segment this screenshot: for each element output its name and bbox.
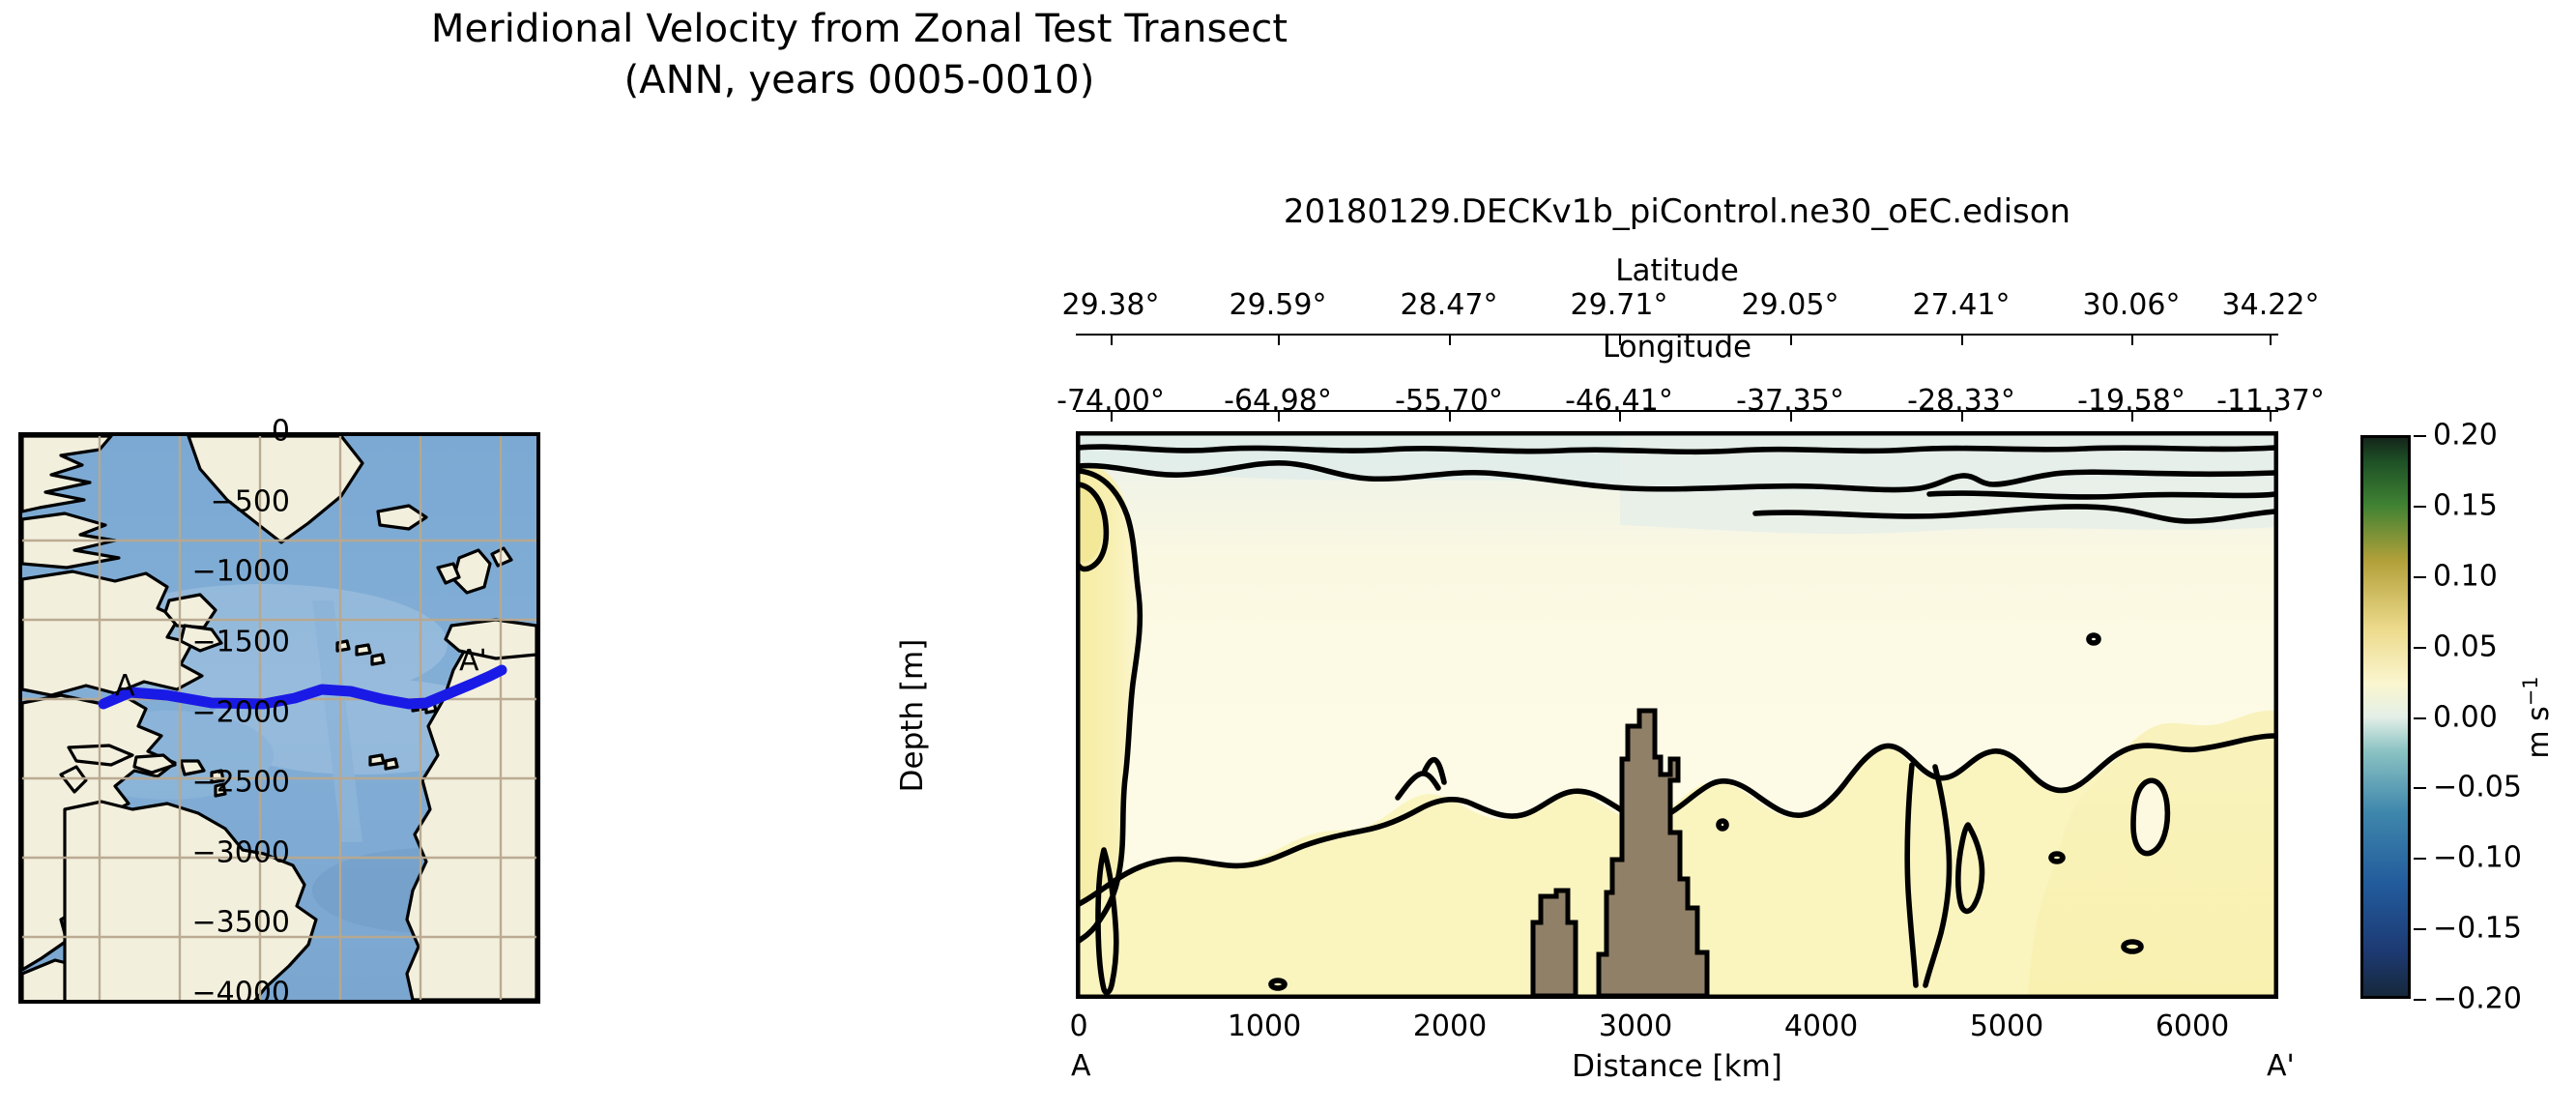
x-tick [1450,996,1452,999]
colorbar[interactable] [2360,435,2411,999]
panel-title: 20180129.DECKv1b_piControl.ne30_oEC.edis… [1076,192,2278,231]
longitude-ticklabel: -37.35° [1736,384,1844,418]
map-label-A-prime: A' [459,644,487,678]
colorbar-tick [2414,787,2426,789]
latitude-ticklabel: 29.59° [1230,288,1327,322]
y-tick [1076,996,1079,998]
y-tick [1076,856,1079,858]
longitude-ticklabel: -64.98° [1224,384,1332,418]
x-ticklabel: 1000 [1228,1009,1301,1043]
x-tick [1635,996,1637,999]
y-tick [1076,716,1079,717]
longitude-ticklabel: -19.58° [2077,384,2185,418]
x-tick [1264,996,1266,999]
colorbar-tick [2414,858,2426,860]
latitude-ticklabel: 34.22° [2222,288,2320,322]
y-ticklabel: −3000 [58,835,290,869]
velocity-field-svg [1079,434,2275,996]
colorbar-tick [2414,928,2426,930]
longitude-ticklabel: -55.70° [1395,384,1503,418]
colorbar-ticklabel: −0.20 [2433,982,2522,1016]
x-ticklabel: 6000 [2156,1009,2229,1043]
y-ticklabel: −4000 [58,977,290,1010]
figure-canvas: Meridional Velocity from Zonal Test Tran… [0,0,2576,1111]
x-ticklabel: 5000 [1970,1009,2043,1043]
colorbar-ticklabel: 0.15 [2433,488,2498,522]
x-ticklabel: 3000 [1599,1009,1672,1043]
suptitle-line-2: (ANN, years 0005-0010) [0,55,1719,106]
x-ticklabel: 4000 [1784,1009,1858,1043]
longitude-ticklabel: -46.41° [1565,384,1673,418]
x-tick [2191,996,2193,999]
latitude-axis-title: Latitude [1076,253,2278,288]
latitude-ticklabel: 29.71° [1571,288,1668,322]
y-tick [1076,645,1079,647]
colorbar-tick [2414,717,2426,719]
x-axis-title: Distance [km] [1572,1049,1782,1084]
y-ticklabel: −1500 [58,625,290,658]
y-tick [1076,434,1079,436]
colorbar-tick [2414,576,2426,578]
x-tick [2007,996,2009,999]
y-tick [1076,505,1079,507]
colorbar-unit-exponent: −1 [2519,676,2542,706]
colorbar-tick [2414,999,2426,1001]
latitude-ticklabel: 29.38° [1062,288,1160,322]
colorbar-unit-base: m s [2522,706,2556,758]
colorbar-axis-title: m s−1 [2519,676,2556,758]
y-ticklabel: −3500 [58,906,290,940]
y-ticklabel: −2000 [58,695,290,729]
latitude-ticklabel: 30.06° [2083,288,2181,322]
colorbar-tick [2414,435,2426,437]
colorbar-tick [2414,647,2426,649]
colorbar-ticklabel: −0.10 [2433,841,2522,875]
suptitle-line-1: Meridional Velocity from Zonal Test Tran… [0,4,1719,55]
figure-suptitle: Meridional Velocity from Zonal Test Tran… [0,4,1719,106]
y-ticklabel: −1000 [58,555,290,589]
y-tick [1076,785,1079,787]
colorbar-ticklabel: 0.20 [2433,419,2498,453]
latitude-ticklabel: 29.05° [1742,288,1839,322]
colorbar-ticklabel: 0.00 [2433,700,2498,734]
longitude-axis-title: Longitude [1076,330,2278,365]
y-ticklabel: −2500 [58,766,290,800]
y-ticklabel: 0 [58,415,290,449]
y-tick [1076,925,1079,927]
velocity-section-axes[interactable] [1076,431,2278,999]
colorbar-ticklabel: −0.15 [2433,912,2522,946]
x-tick [1821,996,1823,999]
transect-endpoint-end: A' [2267,1049,2295,1083]
latitude-ticklabel: 27.41° [1913,288,2011,322]
colorbar-ticklabel: −0.05 [2433,771,2522,804]
y-tick [1076,574,1079,576]
x-tick [1079,996,1081,999]
longitude-ticklabel: -28.33° [1907,384,2015,418]
longitude-ticklabel: -74.00° [1056,384,1165,418]
colorbar-ticklabel: 0.05 [2433,629,2498,663]
colorbar-ticklabel: 0.10 [2433,559,2498,593]
y-axis-title: Depth [m] [895,639,930,793]
latitude-ticklabel: 28.47° [1401,288,1498,322]
longitude-ticklabel: -11.37° [2216,384,2325,418]
x-ticklabel: 0 [1069,1009,1087,1043]
y-ticklabel: −500 [58,484,290,518]
x-ticklabel: 2000 [1413,1009,1487,1043]
transect-endpoint-start: A [1071,1049,1091,1083]
colorbar-tick [2414,506,2426,508]
